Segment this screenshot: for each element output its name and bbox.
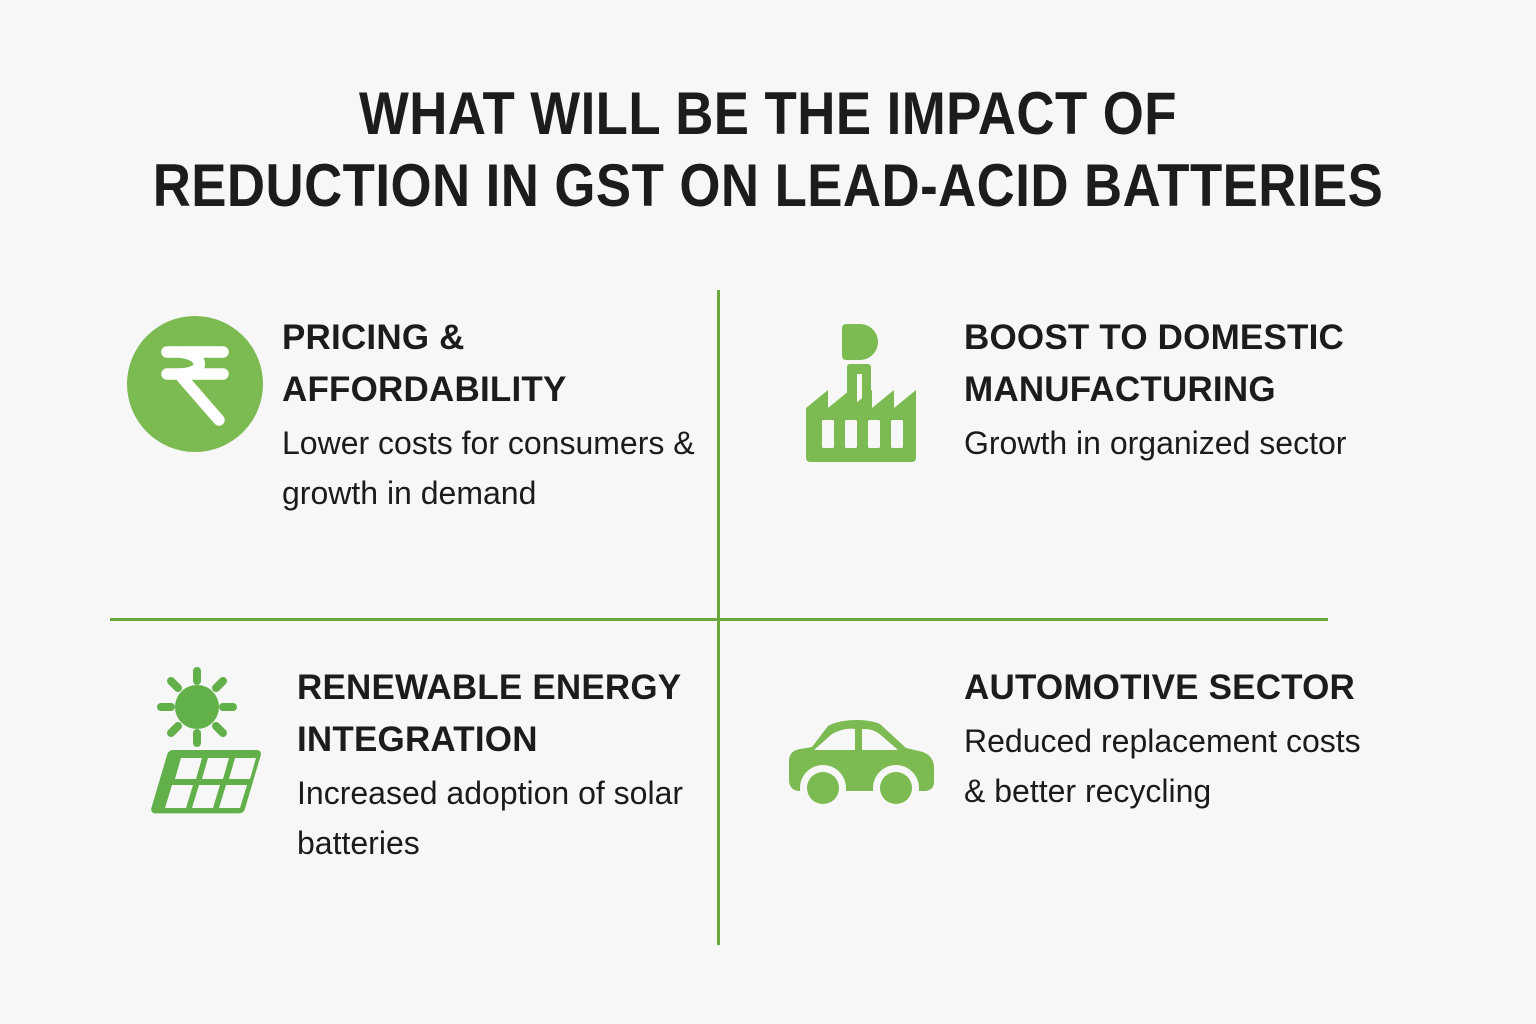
quadrant-renewable-text: RENEWABLE ENERGY INTEGRATION Increased a… (295, 662, 710, 868)
quadrant-manufacturing: BOOST TO DOMESTIC MANUFACTURING Growth i… (762, 312, 1362, 468)
rupee-circle-icon (127, 316, 263, 452)
car-icon (788, 666, 936, 804)
horizontal-divider (110, 618, 1328, 621)
quadrant-renewable-heading: RENEWABLE ENERGY INTEGRATION (297, 662, 710, 766)
solar-panel-icon (141, 666, 265, 818)
quadrant-manufacturing-text: BOOST TO DOMESTIC MANUFACTURING Growth i… (962, 312, 1362, 468)
page-title-line-1: WHAT WILL BE THE IMPACT OF (92, 78, 1444, 150)
quadrant-manufacturing-body: Growth in organized sector (964, 418, 1362, 468)
quadrant-automotive: AUTOMOTIVE SECTOR Reduced replacement co… (762, 662, 1362, 816)
quadrant-automotive-heading: AUTOMOTIVE SECTOR (964, 662, 1362, 714)
quadrant-automotive-text: AUTOMOTIVE SECTOR Reduced replacement co… (962, 662, 1362, 816)
quadrant-pricing-body: Lower costs for consumers & growth in de… (282, 418, 710, 518)
quadrant-renewable-body: Increased adoption of solar batteries (297, 768, 710, 868)
page-title-line-2: REDUCTION IN GST ON LEAD-ACID BATTERIES (92, 150, 1444, 222)
quadrant-pricing-heading: PRICING & AFFORDABILITY (282, 312, 710, 416)
quadrant-pricing-text: PRICING & AFFORDABILITY Lower costs for … (280, 312, 710, 518)
factory-icon (802, 316, 922, 466)
quadrant-manufacturing-icon-slot (762, 312, 962, 466)
quadrant-pricing: PRICING & AFFORDABILITY Lower costs for … (110, 312, 710, 518)
quadrant-renewable-icon-slot (110, 662, 295, 818)
quadrant-renewable: RENEWABLE ENERGY INTEGRATION Increased a… (110, 662, 710, 868)
quadrant-automotive-body: Reduced replacement costs & better recyc… (964, 716, 1362, 816)
page-title: WHAT WILL BE THE IMPACT OF REDUCTION IN … (0, 78, 1536, 222)
quadrant-manufacturing-heading: BOOST TO DOMESTIC MANUFACTURING (964, 312, 1362, 416)
quadrant-pricing-icon-slot (110, 312, 280, 452)
quadrant-automotive-icon-slot (762, 662, 962, 804)
